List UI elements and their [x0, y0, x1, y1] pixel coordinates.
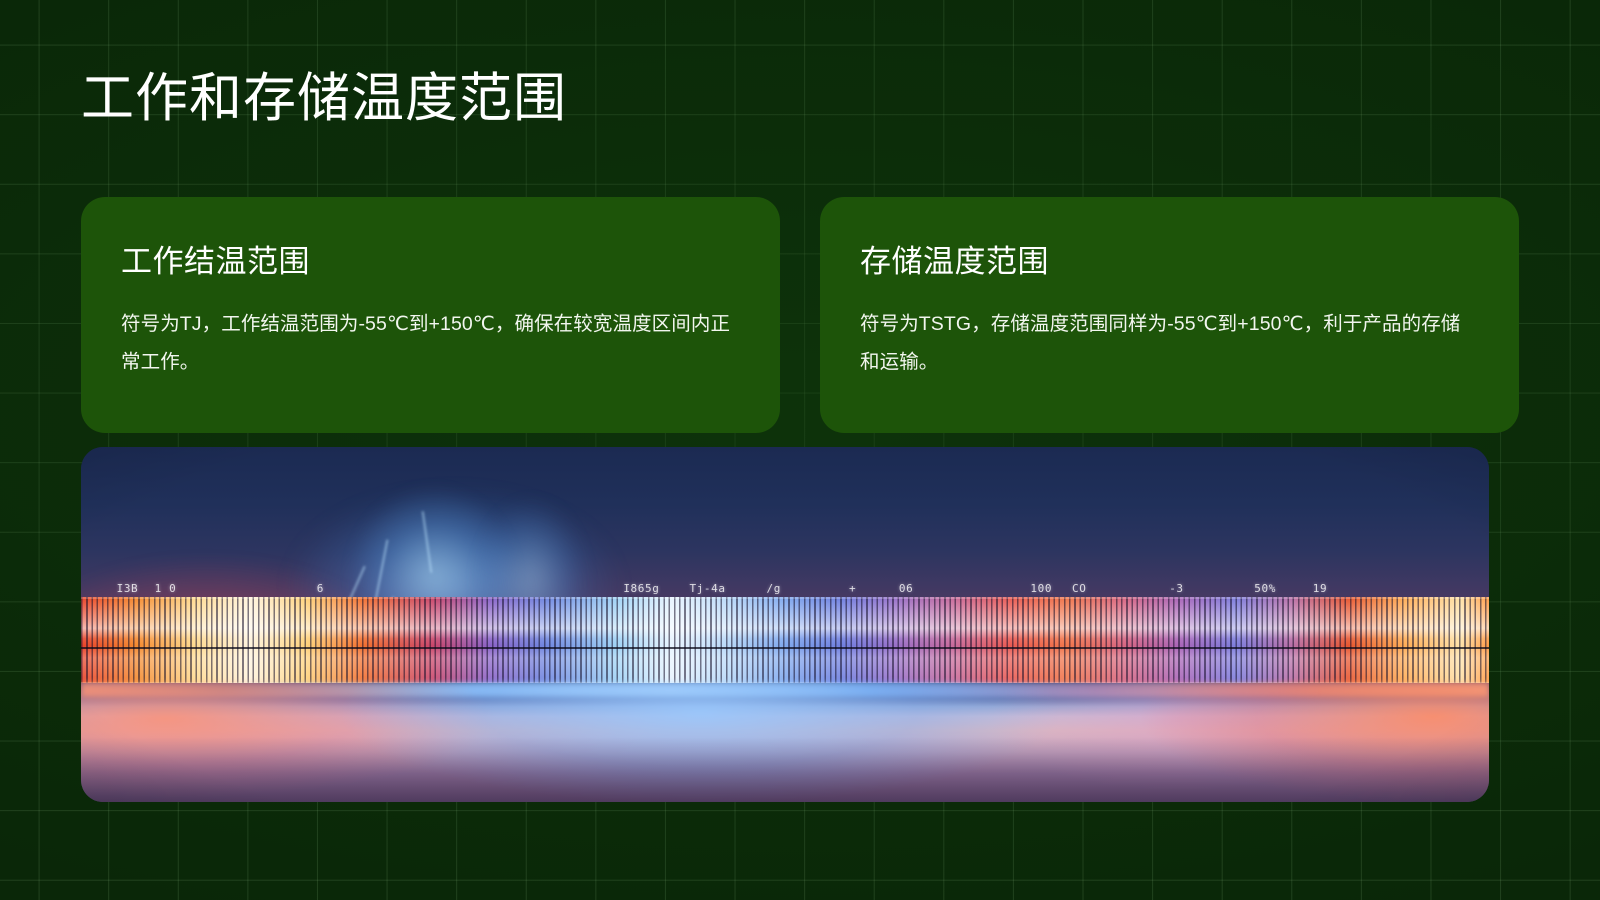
slide-root: 工作和存储温度范围 工作结温范围 符号为TJ，工作结温范围为-55℃到+150℃… — [0, 0, 1600, 900]
card-operating-junction-temperature: 工作结温范围 符号为TJ，工作结温范围为-55℃到+150℃，确保在较宽温度区间… — [81, 197, 780, 433]
card-title: 工作结温范围 — [121, 243, 740, 280]
page-title: 工作和存储温度范围 — [81, 69, 567, 130]
ruler-center-line — [81, 647, 1489, 649]
thermal-ruler-band — [81, 597, 1489, 684]
card-title: 存储温度范围 — [860, 243, 1479, 280]
ruler-tick-marks — [81, 597, 1489, 684]
panel-reflection-floor — [81, 683, 1489, 802]
floor-fade — [81, 737, 1489, 802]
cards-row: 工作结温范围 符号为TJ，工作结温范围为-55℃到+150℃，确保在较宽温度区间… — [81, 197, 1519, 433]
card-storage-temperature: 存储温度范围 符号为TSTG，存储温度范围同样为-55℃到+150℃，利于产品的… — [820, 197, 1519, 433]
card-body: 符号为TJ，工作结温范围为-55℃到+150℃，确保在较宽温度区间内正常工作。 — [121, 305, 740, 381]
ruler-edge-top — [81, 597, 1489, 599]
card-body: 符号为TSTG，存储温度范围同样为-55℃到+150℃，利于产品的存储和运输。 — [860, 305, 1479, 381]
thermal-scale-image: I3B1 06I865gTj-4a/g+06100CO-350%19 5G7:8… — [81, 447, 1489, 802]
